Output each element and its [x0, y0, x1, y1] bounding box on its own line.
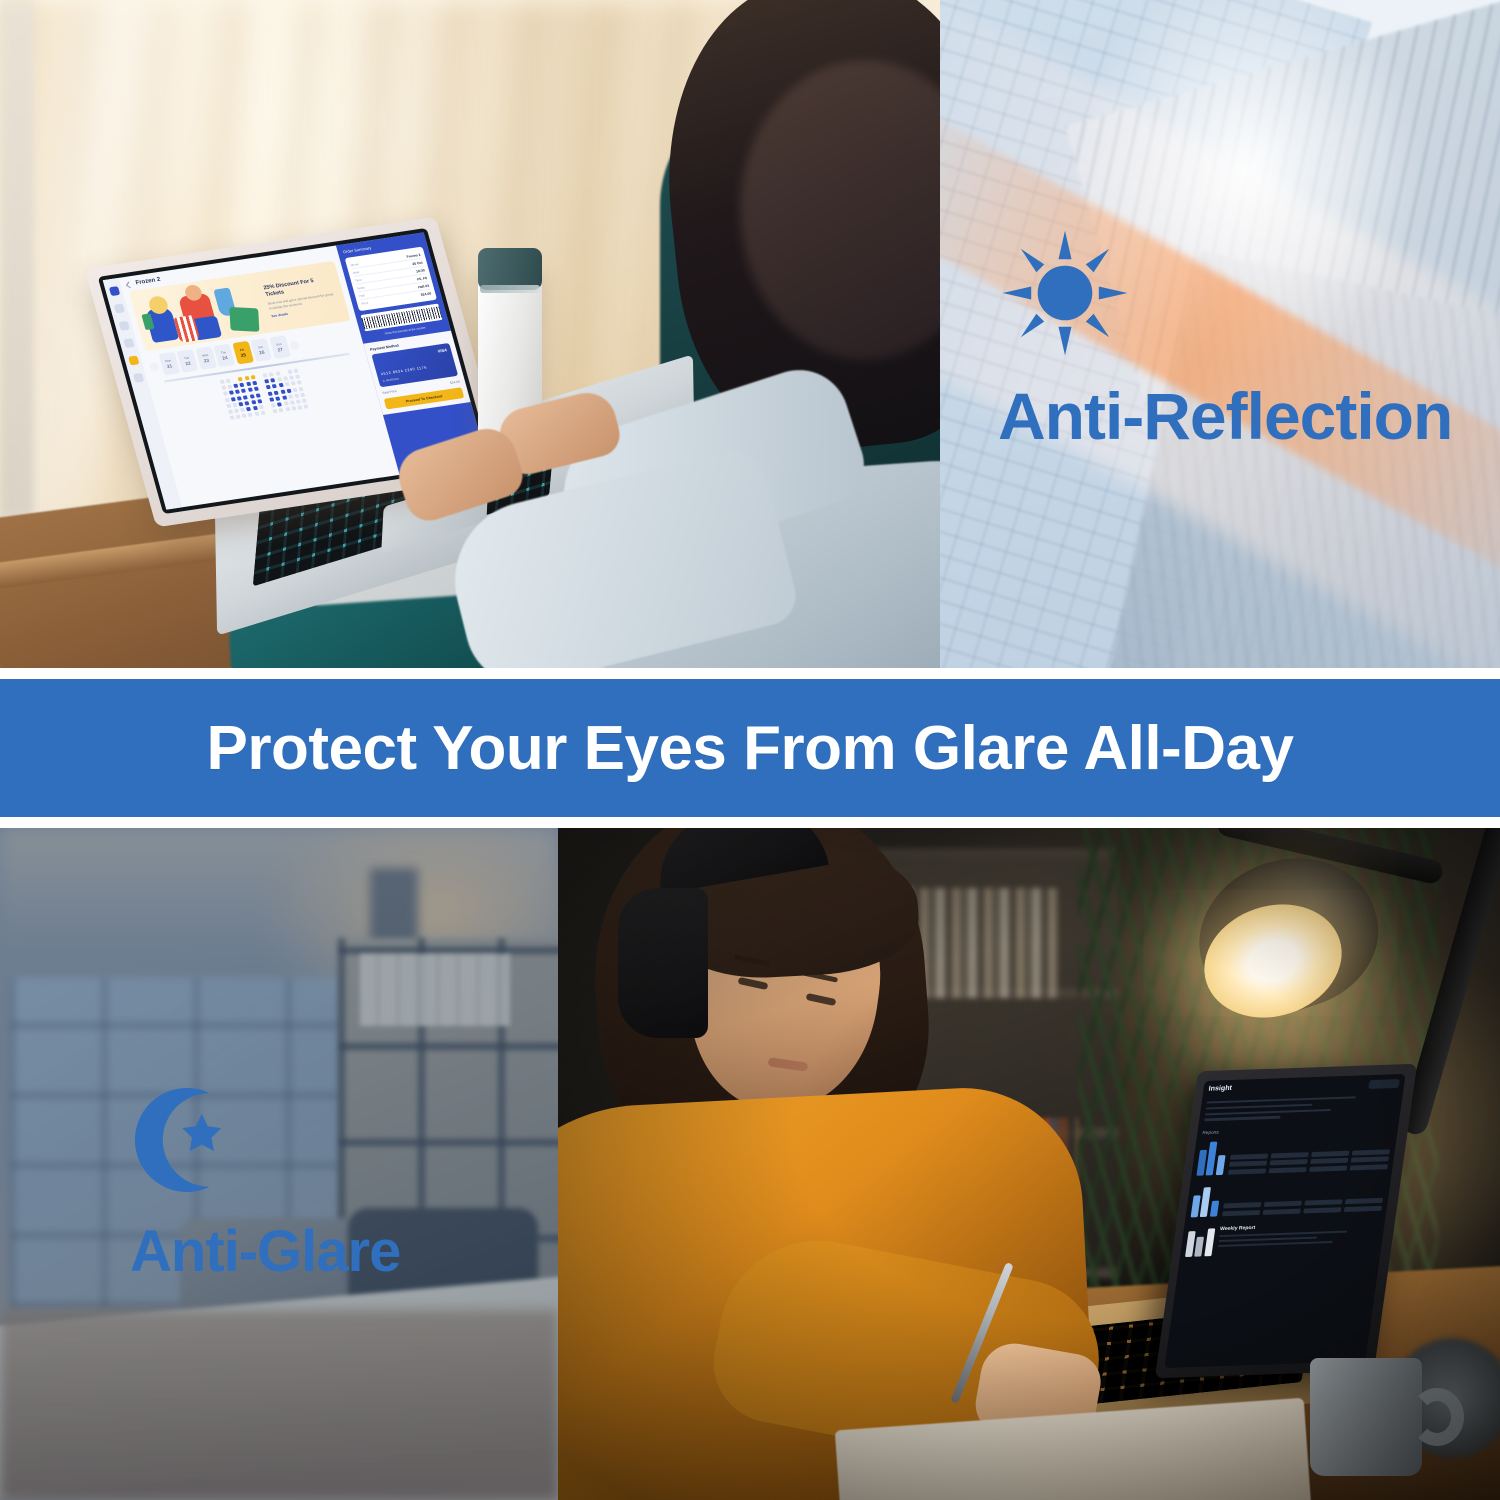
photo-skyscraper-reflection: Anti-Reflection	[940, 0, 1500, 668]
promo-text: 25% Discount For 5 Tickets Book now and …	[263, 276, 341, 318]
dashboard-menu-button[interactable]	[1368, 1079, 1400, 1089]
photo-dim-office	[0, 828, 558, 1500]
search-icon[interactable]	[113, 303, 124, 313]
photo-woman-working-cafe: Frozen 2	[0, 0, 940, 668]
dashboard-logo: Insight	[1208, 1085, 1232, 1093]
movie-title: Frozen 2	[135, 277, 161, 286]
profile-icon[interactable]	[128, 356, 139, 366]
date-prev-arrow[interactable]	[148, 361, 159, 371]
dashboard-charts	[1196, 1133, 1392, 1175]
illustration-plant	[229, 307, 259, 332]
bar-chart-secondary	[1191, 1181, 1222, 1218]
tumbler-lid	[478, 248, 542, 290]
bar-chart	[1196, 1139, 1227, 1176]
coffee-mug	[1310, 1358, 1422, 1476]
headline-banner: Protect Your Eyes From Glare All-Day	[0, 679, 1500, 817]
photo-student-night-study: Insight Reports	[558, 828, 1500, 1500]
dashboard-footer: Weekly Report	[1185, 1220, 1380, 1256]
card-holder: A. MORGAN	[382, 377, 399, 383]
ticket-icon[interactable]	[118, 321, 129, 331]
promo-illustration	[135, 276, 270, 348]
tumbler-ring	[480, 285, 540, 293]
footer-heading: Weekly Report	[1220, 1220, 1380, 1232]
settings-icon[interactable]	[132, 373, 143, 383]
total-value: $24.00	[450, 380, 461, 385]
date-chip[interactable]: Sat26	[250, 338, 272, 362]
ticket-card: MovieFrozen 2 Date25 Oct Time19:30 Seats…	[345, 247, 437, 312]
home-icon[interactable]	[108, 286, 119, 296]
product-feature-collage: Frozen 2	[0, 0, 1500, 1500]
footer-text: Weekly Report	[1216, 1220, 1380, 1255]
back-arrow-icon[interactable]	[126, 281, 133, 288]
card-number: 4512 8834 2290 1176	[380, 365, 427, 376]
card-brand: VISA	[437, 347, 448, 353]
dashboard-stat-grid-secondary	[1222, 1198, 1383, 1216]
total-label: Total Price	[382, 389, 398, 395]
mug-handle	[1410, 1388, 1464, 1446]
dashboard-stat-grid	[1228, 1149, 1390, 1175]
footer-bars	[1185, 1226, 1215, 1257]
date-chip[interactable]: Sun27	[269, 335, 291, 359]
anti-reflection-label: Anti-Reflection	[998, 378, 1452, 454]
headphone-earcup	[618, 888, 708, 1038]
dashboard-text-block	[1204, 1095, 1398, 1121]
dashboard-header: Insight	[1208, 1079, 1400, 1095]
headline-text: Protect Your Eyes From Glare All-Day	[207, 713, 1294, 784]
dark-dashboard: Insight Reports	[1170, 1079, 1400, 1363]
sun-icon	[1000, 228, 1130, 358]
calendar-icon[interactable]	[123, 338, 134, 348]
payment-section: Payment Method VISA 4512 8834 2290 1176 …	[363, 331, 470, 415]
date-chip[interactable]: Thu24	[213, 344, 235, 368]
date-chip[interactable]: Tue22	[176, 349, 198, 373]
crescent-moon-star-icon	[116, 1075, 246, 1205]
office-dim-overlay	[0, 828, 558, 1500]
date-next-arrow[interactable]	[289, 340, 300, 350]
night-laptop-screen-dashboard: Insight Reports	[1164, 1074, 1405, 1368]
anti-glare-label: Anti-Glare	[130, 1218, 400, 1285]
dashboard-charts-secondary	[1191, 1175, 1387, 1217]
